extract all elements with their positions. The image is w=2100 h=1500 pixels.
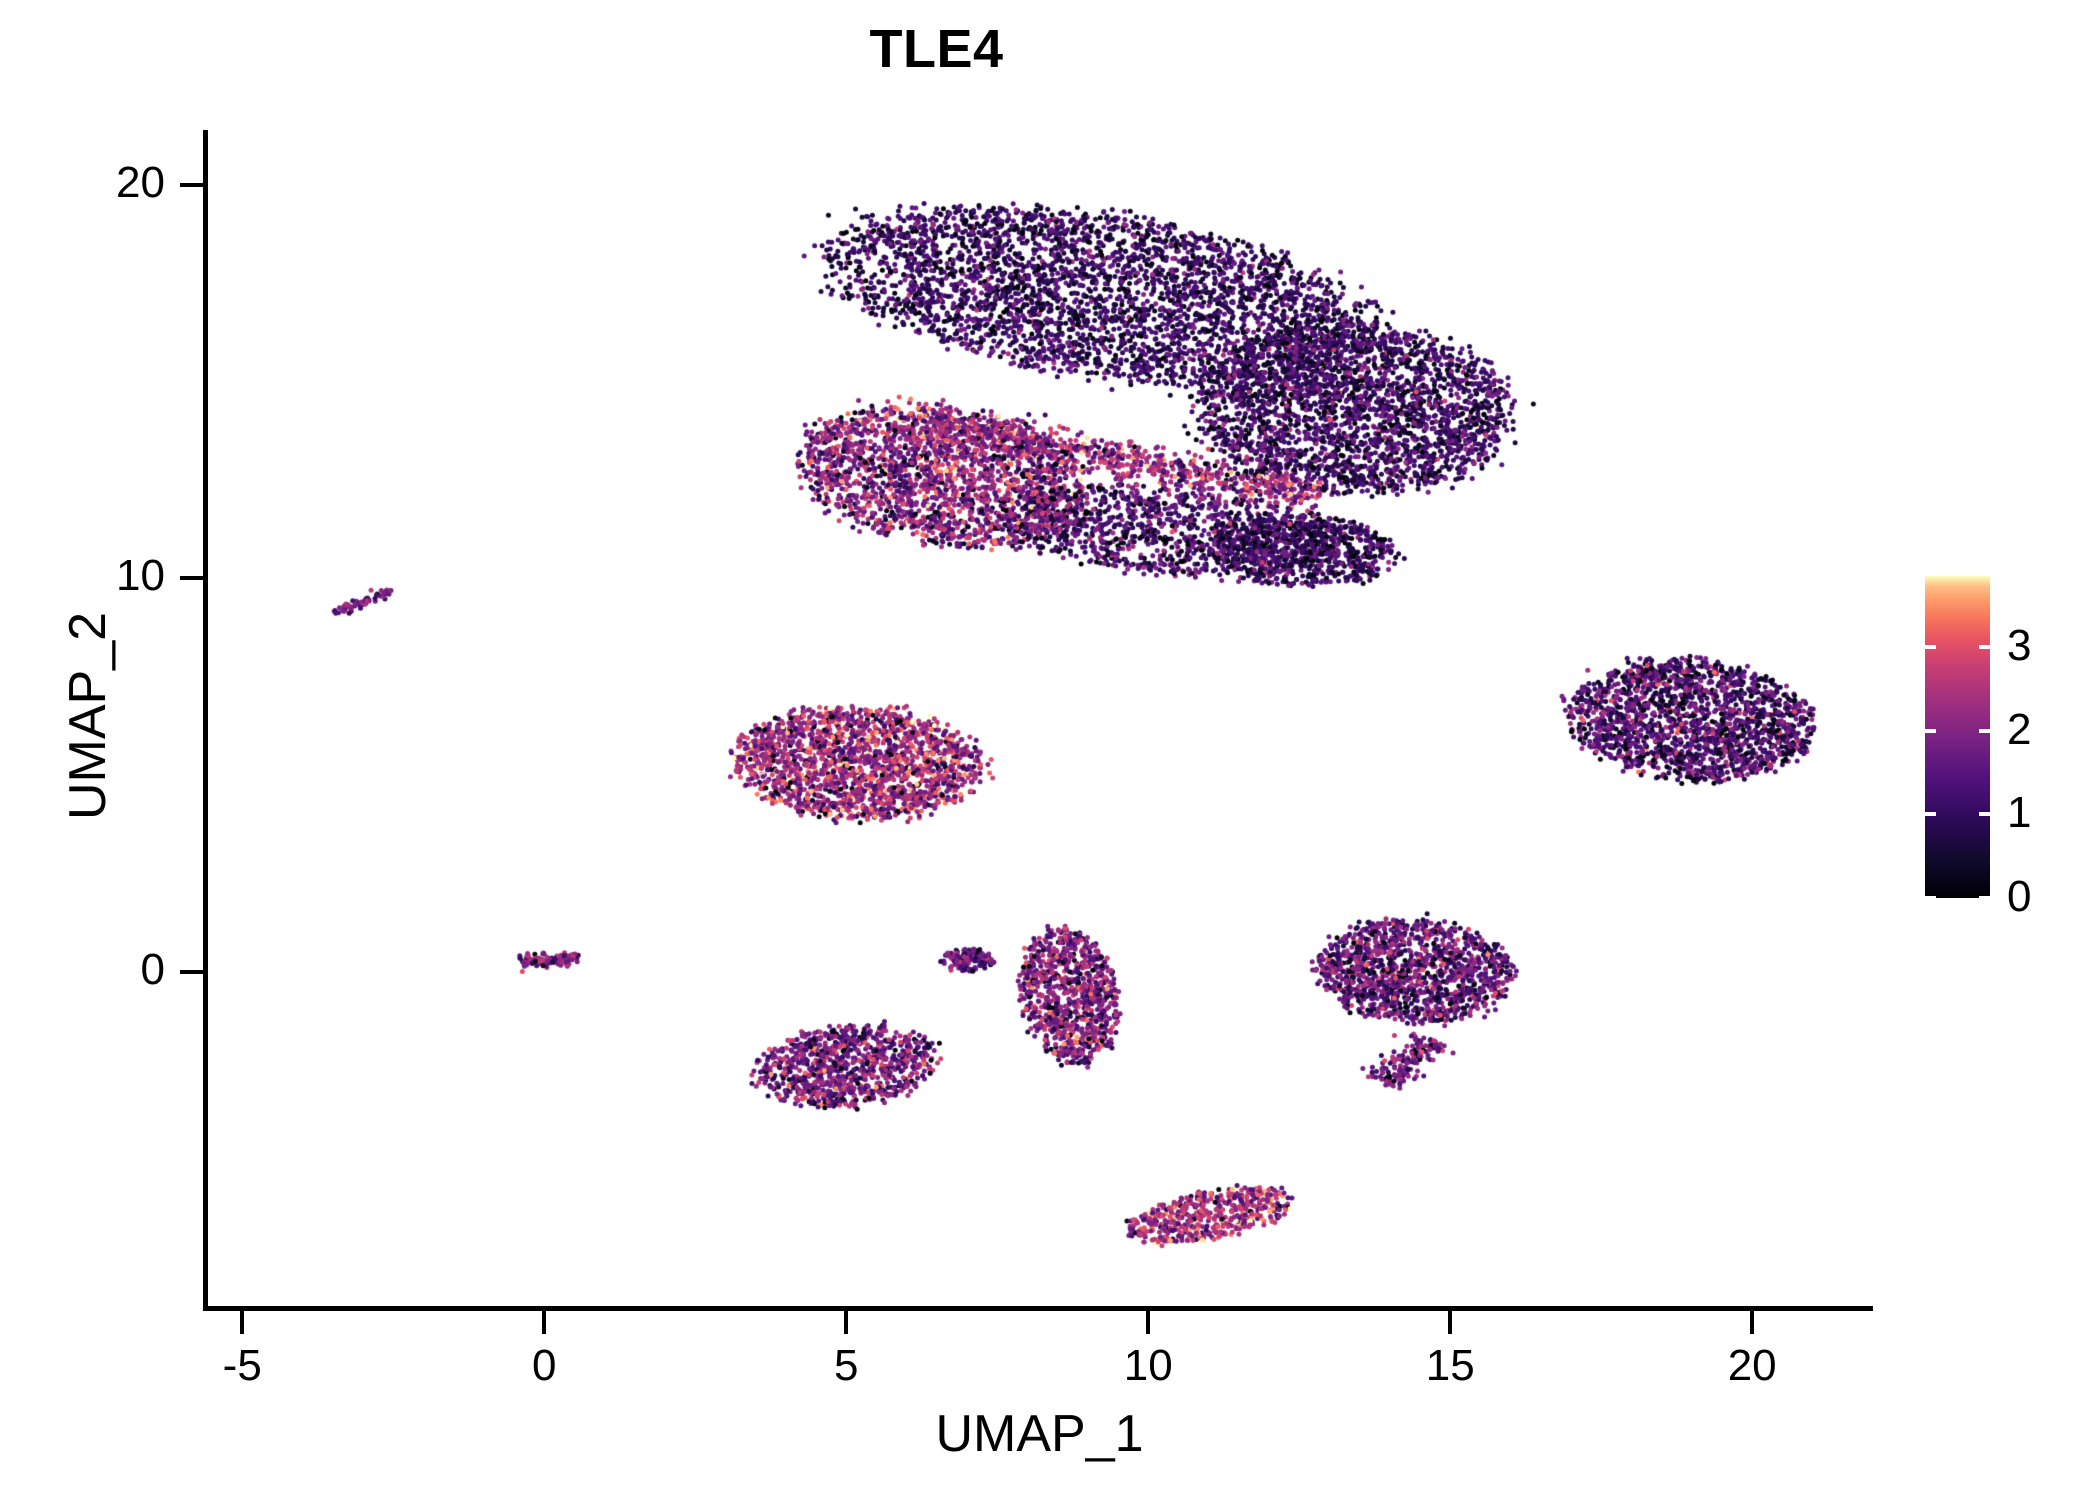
colorbar-tick-mark: [1979, 896, 1990, 900]
x-axis-title: UMAP_1: [206, 1408, 1873, 1460]
x-tick-mark: [1448, 1311, 1452, 1334]
x-tick-label: 10: [1048, 1344, 1248, 1388]
y-tick-label: 0: [141, 948, 165, 992]
y-tick-mark: [180, 576, 203, 580]
scatter-canvas: [206, 130, 1873, 1310]
x-tick-mark: [240, 1311, 244, 1334]
x-tick-mark: [844, 1311, 848, 1334]
x-tick-mark: [1146, 1311, 1150, 1334]
colorbar-tick-label: 3: [2007, 624, 2031, 668]
colorbar-tick-label: 1: [2007, 791, 2031, 835]
y-axis-line: [203, 130, 208, 1310]
colorbar-tick-mark: [1979, 729, 1990, 733]
plot-panel: [206, 130, 1873, 1310]
colorbar-tick-mark: [1979, 812, 1990, 816]
colorbar-tick-mark: [1979, 645, 1990, 649]
x-tick-mark: [542, 1311, 546, 1334]
colorbar-legend: 0123: [1925, 576, 2095, 900]
colorbar-tick-label: 0: [2007, 875, 2031, 919]
x-tick-label: 0: [444, 1344, 644, 1388]
y-tick-mark: [180, 183, 203, 187]
umap-feature-plot: TLE4 01020 -505101520 UMAP_1 UMAP_2 0123: [0, 0, 2100, 1500]
y-tick-label: 10: [116, 554, 165, 598]
x-tick-label: 5: [746, 1344, 946, 1388]
colorbar-tick-mark: [1925, 896, 1936, 900]
colorbar-tick-mark: [1925, 729, 1936, 733]
x-tick-label: -5: [142, 1344, 342, 1388]
colorbar-tick-label: 2: [2007, 708, 2031, 752]
x-axis-line: [203, 1306, 1873, 1311]
x-tick-label: 20: [1652, 1344, 1852, 1388]
y-tick-label: 20: [116, 161, 165, 205]
colorbar-tick-mark: [1925, 812, 1936, 816]
colorbar-gradient: [1925, 576, 1990, 898]
x-tick-label: 15: [1350, 1344, 1550, 1388]
colorbar-tick-mark: [1925, 645, 1936, 649]
y-axis-title: UMAP_2: [62, 336, 114, 1096]
page-title: TLE4: [0, 22, 1873, 76]
x-tick-mark: [1750, 1311, 1754, 1334]
y-tick-mark: [180, 970, 203, 974]
